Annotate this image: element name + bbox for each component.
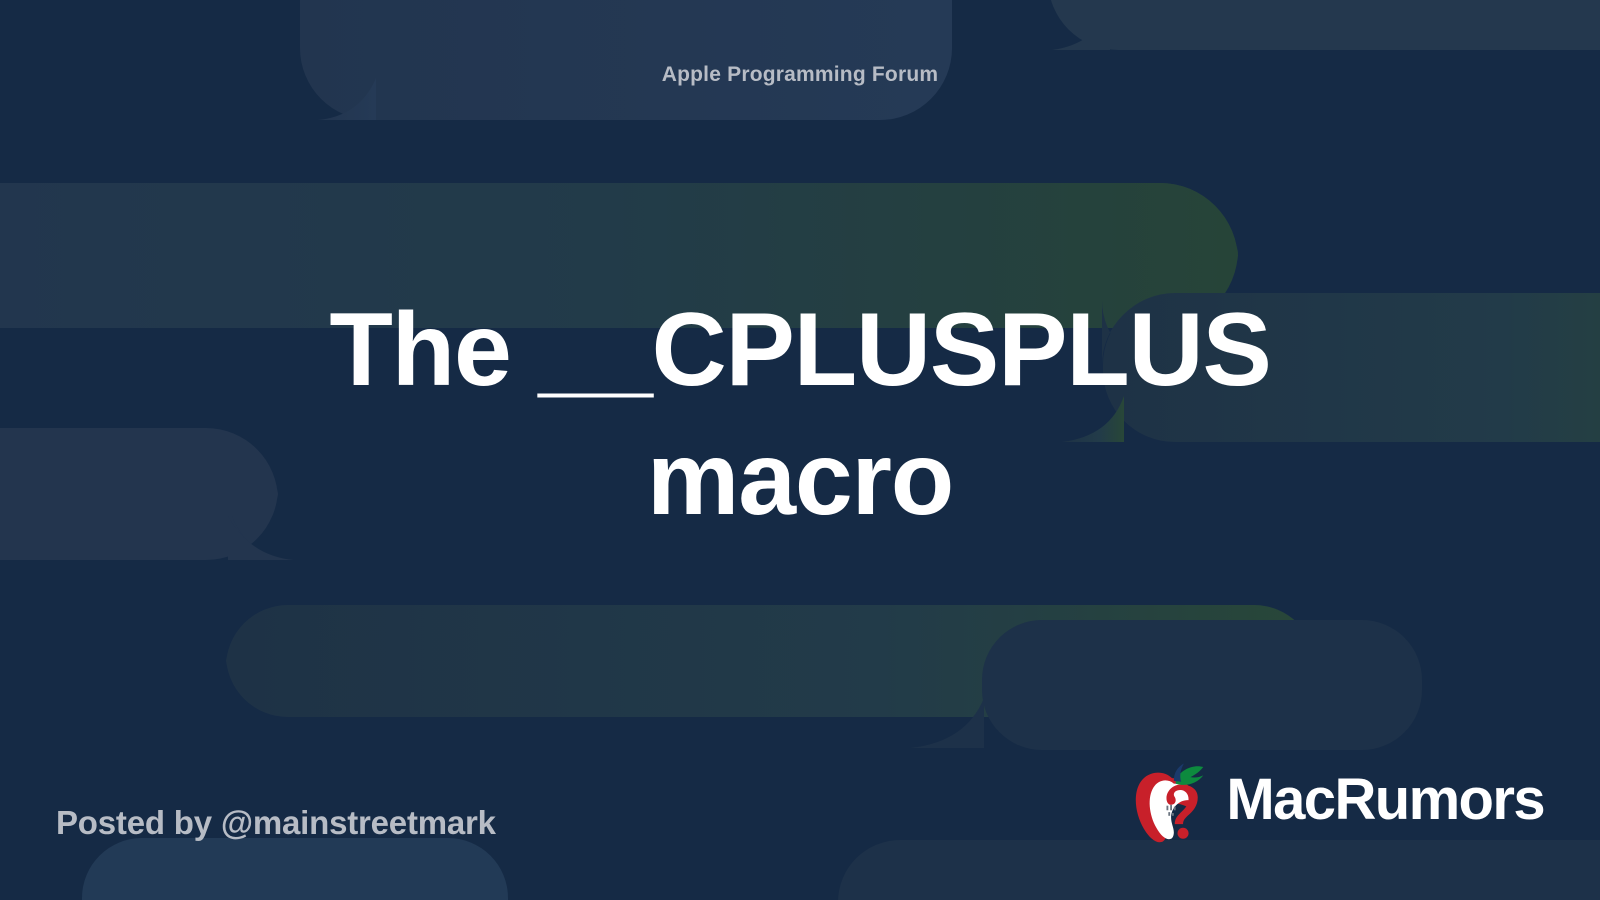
posted-by-label: Posted by @mainstreetmark xyxy=(56,804,496,848)
post-title: The __CPLUSPLUS macro xyxy=(206,286,1394,544)
card-content: Apple Programming Forum The __CPLUSPLUS … xyxy=(0,0,1600,900)
macrumors-apple-icon xyxy=(1126,756,1218,848)
card-footer: Posted by @mainstreetmark xyxy=(56,756,1544,848)
macrumors-wordmark: MacRumors xyxy=(1226,771,1544,833)
social-share-card: Apple Programming Forum The __CPLUSPLUS … xyxy=(0,0,1600,900)
macrumors-logo: MacRumors xyxy=(1126,756,1544,848)
title-container: The __CPLUSPLUS macro xyxy=(56,73,1544,756)
